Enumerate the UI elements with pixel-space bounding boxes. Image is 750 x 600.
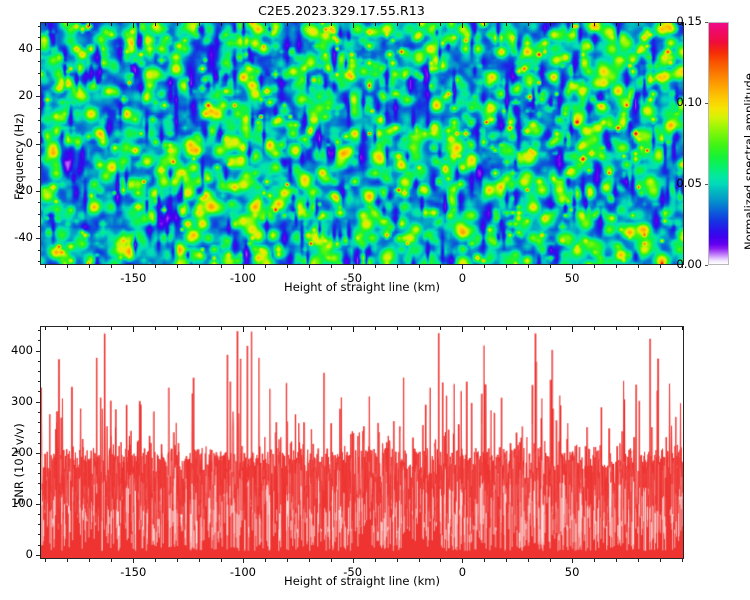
tick-mark [38, 261, 41, 262]
tick-mark [440, 327, 441, 330]
tick-mark [594, 559, 595, 562]
tick-mark [419, 559, 420, 562]
heatmap-x-axis-label: Height of straight line (km) [40, 280, 684, 294]
tick-mark [528, 559, 529, 562]
tick-mark [660, 23, 661, 26]
tick-mark [45, 265, 46, 268]
tick-mark [38, 381, 41, 382]
tick-mark [484, 327, 485, 330]
tick-mark [660, 327, 661, 330]
tick-mark [550, 559, 551, 562]
tick-mark [36, 453, 40, 454]
tick-mark [265, 327, 266, 330]
heatmap-y-axis-label: Frequency (Hz) [12, 113, 26, 200]
tick-mark [616, 559, 617, 562]
tick-mark [419, 327, 420, 330]
tick-mark [397, 265, 398, 268]
tick-mark [133, 23, 134, 28]
tick-mark [38, 179, 41, 180]
tick-mark [36, 191, 40, 192]
tick-mark [572, 23, 573, 28]
tick-mark [38, 422, 41, 423]
tick-mark [550, 265, 551, 268]
tick-mark [287, 327, 288, 330]
tick-mark [38, 37, 41, 38]
tick-mark [38, 340, 41, 341]
tick-mark [660, 559, 661, 562]
y-tick-label: 400 [0, 343, 33, 357]
tick-mark [36, 49, 40, 50]
page-title: C2E5.2023.329.17.55.R13 [0, 3, 683, 18]
snr-trace [41, 327, 683, 558]
tick-mark [38, 330, 41, 331]
colorbar-tick-label: 0.05 [668, 176, 702, 190]
tick-mark [331, 23, 332, 26]
colorbar-tick-label: 0.15 [668, 14, 702, 28]
tick-mark [397, 23, 398, 26]
tick-mark [89, 559, 90, 562]
tick-mark [36, 402, 40, 403]
tick-mark [67, 327, 68, 330]
colorbar [708, 22, 729, 265]
tick-mark [243, 559, 244, 563]
tick-mark [45, 559, 46, 562]
tick-mark [265, 559, 266, 562]
y-tick-label: 0 [0, 547, 33, 561]
tick-mark [375, 327, 376, 330]
tick-mark [506, 327, 507, 330]
tick-mark [133, 265, 134, 269]
tick-mark [550, 327, 551, 330]
tick-mark [528, 23, 529, 26]
tick-mark [462, 265, 463, 269]
tick-mark [38, 524, 41, 525]
tick-mark [38, 534, 41, 535]
tick-mark [155, 265, 156, 268]
y-tick-label: 40 [0, 41, 33, 55]
tick-mark [38, 545, 41, 546]
tick-mark [462, 23, 463, 28]
tick-mark [265, 23, 266, 26]
tick-mark [177, 327, 178, 330]
snr-y-axis-label: SNR (10 * v/v) [12, 423, 26, 505]
tick-mark [38, 132, 41, 133]
tick-mark [89, 327, 90, 330]
tick-mark [419, 23, 420, 26]
tick-mark [155, 559, 156, 562]
tick-mark [484, 265, 485, 268]
tick-mark [111, 265, 112, 268]
tick-mark [67, 559, 68, 562]
tick-mark [375, 559, 376, 562]
tick-mark [177, 265, 178, 268]
tick-mark [616, 327, 617, 330]
tick-mark [38, 120, 41, 121]
tick-mark [199, 327, 200, 330]
tick-mark [265, 265, 266, 268]
tick-mark [38, 214, 41, 215]
colorbar-gradient [708, 22, 729, 265]
tick-mark [38, 155, 41, 156]
tick-mark [705, 184, 708, 185]
tick-mark [36, 555, 40, 556]
tick-mark [397, 559, 398, 562]
tick-mark [594, 265, 595, 268]
tick-mark [638, 327, 639, 330]
tick-mark [45, 327, 46, 330]
tick-mark [660, 265, 661, 268]
tick-mark [67, 265, 68, 268]
tick-mark [38, 514, 41, 515]
y-tick-label: 20 [0, 88, 33, 102]
tick-mark [572, 265, 573, 269]
tick-mark [199, 23, 200, 26]
tick-mark [528, 327, 529, 330]
tick-mark [616, 265, 617, 268]
tick-mark [36, 351, 40, 352]
tick-mark [638, 559, 639, 562]
tick-mark [38, 463, 41, 464]
tick-mark [375, 23, 376, 26]
tick-mark [506, 23, 507, 26]
tick-mark [462, 327, 463, 332]
tick-mark [221, 559, 222, 562]
tick-mark [221, 265, 222, 268]
tick-mark [67, 23, 68, 26]
tick-mark [506, 559, 507, 562]
tick-mark [287, 559, 288, 562]
tick-mark [38, 85, 41, 86]
tick-mark [199, 265, 200, 268]
tick-mark [638, 23, 639, 26]
tick-mark [45, 23, 46, 26]
tick-mark [38, 361, 41, 362]
colorbar-axis-label: Normalized spectral amplitude [742, 73, 750, 250]
tick-mark [682, 327, 683, 330]
tick-mark [243, 265, 244, 269]
tick-mark [572, 327, 573, 332]
tick-mark [462, 559, 463, 563]
tick-mark [38, 494, 41, 495]
tick-mark [177, 559, 178, 562]
tick-mark [638, 265, 639, 268]
tick-mark [243, 327, 244, 332]
tick-mark [36, 96, 40, 97]
tick-mark [38, 483, 41, 484]
figure-canvas: C2E5.2023.329.17.55.R13 -150-100-50050 -… [0, 0, 750, 600]
tick-mark [440, 23, 441, 26]
tick-mark [287, 265, 288, 268]
tick-mark [440, 559, 441, 562]
tick-mark [38, 108, 41, 109]
tick-mark [155, 327, 156, 330]
tick-mark [133, 559, 134, 563]
tick-mark [155, 23, 156, 26]
tick-mark [397, 327, 398, 330]
tick-mark [111, 559, 112, 562]
tick-mark [594, 23, 595, 26]
tick-mark [38, 412, 41, 413]
tick-mark [419, 265, 420, 268]
tick-mark [38, 443, 41, 444]
tick-mark [484, 23, 485, 26]
tick-mark [221, 23, 222, 26]
tick-mark [111, 23, 112, 26]
tick-mark [682, 559, 683, 562]
tick-mark [38, 26, 41, 27]
tick-mark [484, 559, 485, 562]
colorbar-tick-label: 0.10 [668, 95, 702, 109]
tick-mark [572, 559, 573, 563]
tick-mark [309, 327, 310, 330]
tick-mark [38, 371, 41, 372]
tick-mark [353, 327, 354, 332]
tick-mark [199, 559, 200, 562]
tick-mark [309, 265, 310, 268]
tick-mark [705, 103, 708, 104]
tick-mark [38, 391, 41, 392]
tick-mark [38, 226, 41, 227]
tick-mark [38, 250, 41, 251]
tick-mark [243, 23, 244, 28]
spectrogram-heatmap [40, 22, 684, 265]
tick-mark [331, 559, 332, 562]
tick-mark [550, 23, 551, 26]
y-tick-label: -40 [0, 230, 33, 244]
tick-mark [38, 73, 41, 74]
y-tick-label: 300 [0, 394, 33, 408]
heatmap-image [41, 23, 683, 264]
tick-mark [331, 265, 332, 268]
tick-mark [375, 265, 376, 268]
colorbar-tick-label: 0.00 [668, 257, 702, 271]
tick-mark [440, 265, 441, 268]
tick-mark [36, 144, 40, 145]
tick-mark [221, 327, 222, 330]
tick-mark [353, 23, 354, 28]
tick-mark [506, 265, 507, 268]
tick-mark [705, 265, 708, 266]
tick-mark [353, 559, 354, 563]
tick-mark [133, 327, 134, 332]
tick-mark [353, 265, 354, 269]
tick-mark [38, 61, 41, 62]
tick-mark [36, 504, 40, 505]
tick-mark [177, 23, 178, 26]
tick-mark [89, 265, 90, 268]
tick-mark [38, 202, 41, 203]
tick-mark [528, 265, 529, 268]
snr-line-plot [40, 326, 684, 559]
tick-mark [287, 23, 288, 26]
snr-x-axis-label: Height of straight line (km) [40, 574, 684, 588]
tick-mark [38, 473, 41, 474]
tick-mark [594, 327, 595, 330]
tick-mark [38, 167, 41, 168]
tick-mark [331, 327, 332, 330]
tick-mark [89, 23, 90, 26]
tick-mark [309, 559, 310, 562]
tick-mark [705, 22, 708, 23]
tick-mark [616, 23, 617, 26]
tick-mark [38, 432, 41, 433]
tick-mark [36, 238, 40, 239]
tick-mark [111, 327, 112, 330]
tick-mark [309, 23, 310, 26]
